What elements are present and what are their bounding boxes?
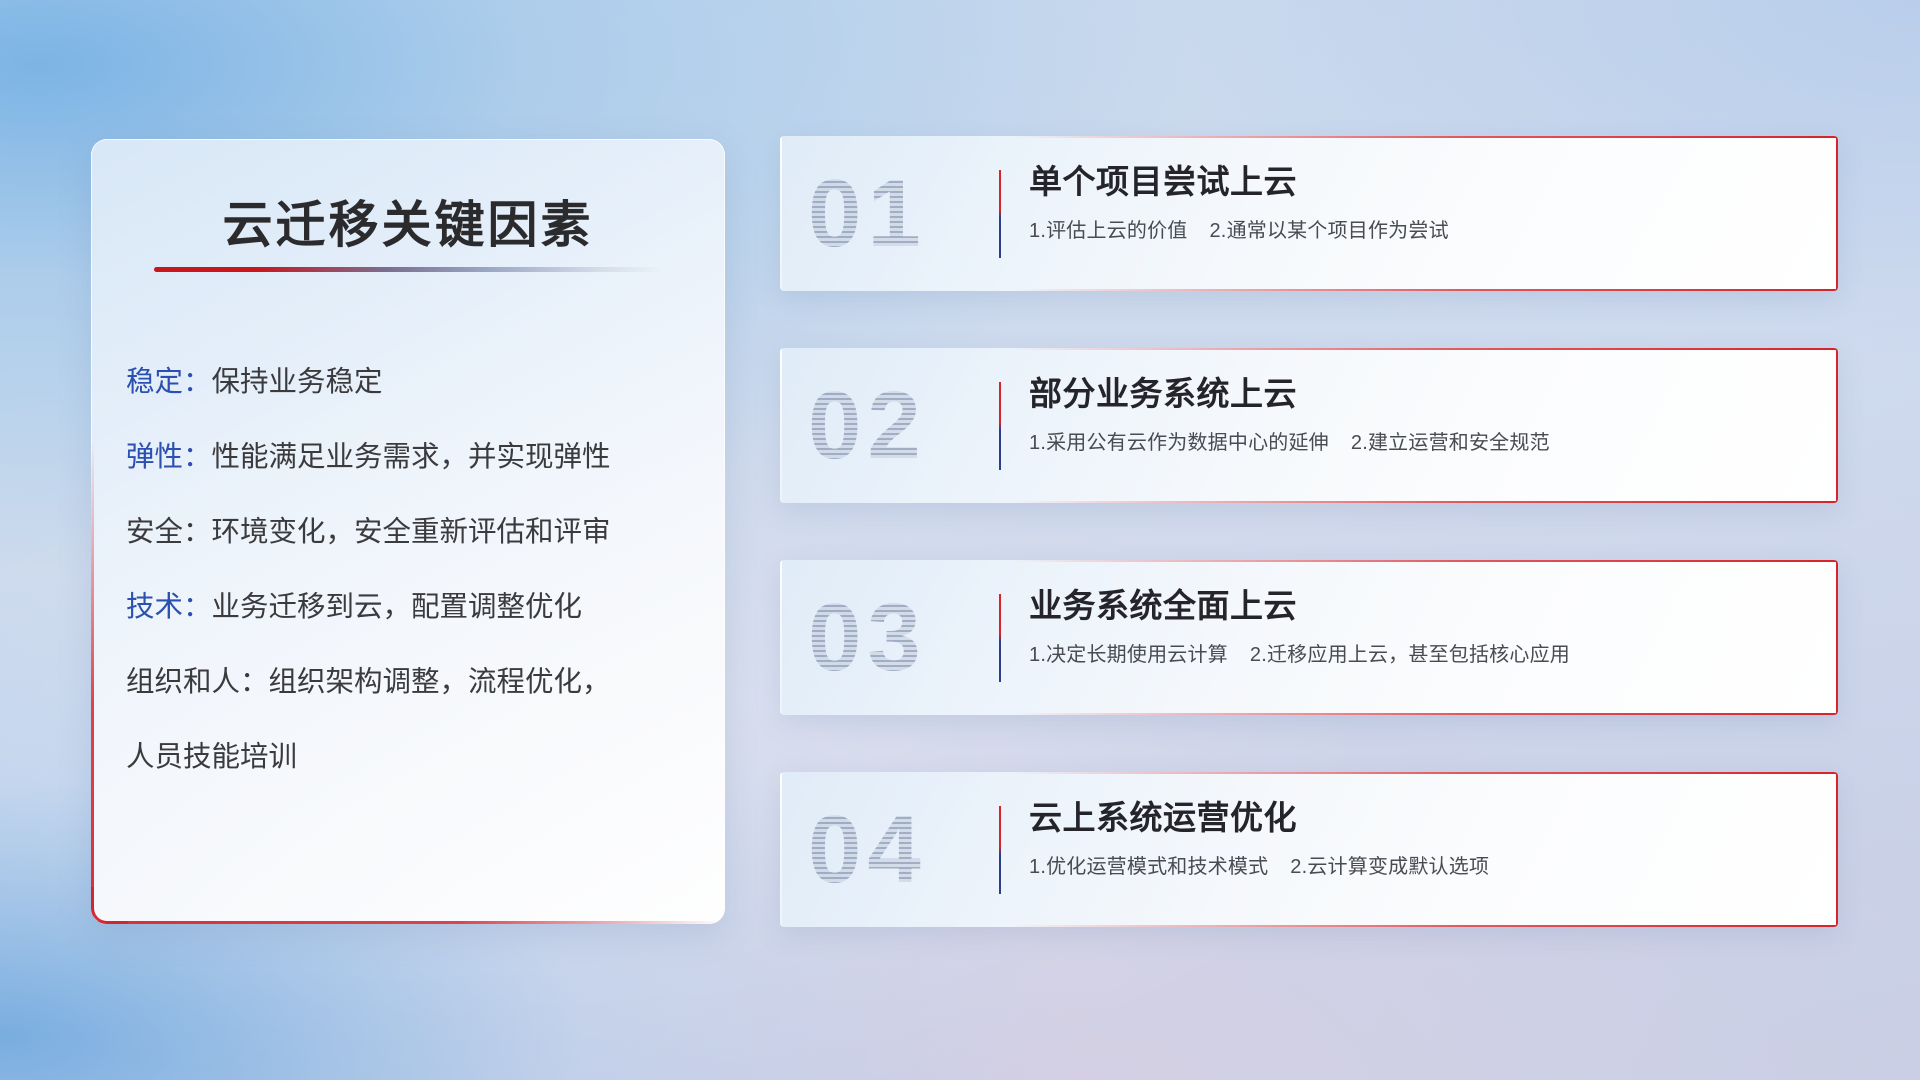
list-item: 安全：环境变化，安全重新评估和评审 [126,495,699,570]
card-right-edge [1836,136,1838,291]
panel-accent-left-edge [91,439,94,924]
list-item: 稳定：保持业务稳定 [126,345,699,420]
list-item-key: 安全： [126,516,212,548]
key-factors-panel: 云迁移关键因素 稳定：保持业务稳定 弹性：性能满足业务需求，并实现弹性 安全：环… [91,139,725,924]
card-description-part-1: 1.采用公有云作为数据中心的延伸 [1029,432,1329,454]
card-description-part-1: 1.评估上云的价值 [1029,220,1187,242]
list-item: 弹性：性能满足业务需求，并实现弹性 [126,420,699,495]
panel-title: 云迁移关键因素 [91,185,725,257]
list-item-key: 稳定： [126,366,212,398]
panel-accent-corner [91,887,128,924]
card-text-block: 单个项目尝试上云 1.评估上云的价值2.通常以某个项目作为尝试 [1029,162,1818,243]
card-top-edge [1013,772,1838,774]
card-divider [999,806,1001,894]
card-text-block: 业务系统全面上云 1.决定长期使用云计算2.迁移应用上云，甚至包括核心应用 [1029,586,1818,667]
list-item-value: 人员技能培训 [126,741,297,773]
card-right-edge [1836,772,1838,927]
card-bottom-edge [1013,713,1838,715]
panel-title-underline [154,267,662,272]
list-item-value: 环境变化，安全重新评估和评审 [212,516,611,548]
card-description: 1.采用公有云作为数据中心的延伸2.建立运营和安全规范 [1029,426,1818,455]
list-item-key: 弹性： [126,441,212,473]
card-description: 1.优化运营模式和技术模式2.云计算变成默认选项 [1029,850,1818,879]
card-title: 单个项目尝试上云 [1029,162,1818,202]
list-item-value: 组织架构调整，流程优化， [269,666,611,698]
key-factors-list: 稳定：保持业务稳定 弹性：性能满足业务需求，并实现弹性 安全：环境变化，安全重新… [126,345,699,795]
card-left-edge [780,136,782,291]
card-bottom-edge [1013,289,1838,291]
card-left-edge [780,560,782,715]
card-top-edge [1013,136,1838,138]
list-item: 组织和人：组织架构调整，流程优化， [126,645,699,720]
card-divider [999,170,1001,258]
card-title: 业务系统全面上云 [1029,586,1818,626]
list-item-key: 组织和人： [126,666,269,698]
card-description-part-2: 2.建立运营和安全规范 [1351,432,1550,454]
card-bottom-edge [1013,501,1838,503]
card-title: 部分业务系统上云 [1029,374,1818,414]
card-description-part-2: 2.迁移应用上云，甚至包括核心应用 [1250,644,1570,666]
list-item: 技术：业务迁移到云，配置调整优化 [126,570,699,645]
list-item-continuation: 人员技能培训 [126,720,699,795]
card-bottom-edge [1013,925,1838,927]
card-description-part-1: 1.决定长期使用云计算 [1029,644,1228,666]
stage-card[interactable]: 01 单个项目尝试上云 1.评估上云的价值2.通常以某个项目作为尝试 [780,136,1838,291]
card-left-edge [780,772,782,927]
card-divider [999,382,1001,470]
card-step-number: 04 [808,802,927,898]
panel-accent-bottom-edge [91,921,725,924]
list-item-value: 保持业务稳定 [212,366,383,398]
list-item-key: 技术： [126,591,212,623]
list-item-value: 业务迁移到云，配置调整优化 [212,591,583,623]
stage-card[interactable]: 02 部分业务系统上云 1.采用公有云作为数据中心的延伸2.建立运营和安全规范 [780,348,1838,503]
stage-cards-list: 01 单个项目尝试上云 1.评估上云的价值2.通常以某个项目作为尝试 02 部分… [780,136,1838,984]
card-description: 1.决定长期使用云计算2.迁移应用上云，甚至包括核心应用 [1029,638,1818,667]
card-text-block: 云上系统运营优化 1.优化运营模式和技术模式2.云计算变成默认选项 [1029,798,1818,879]
card-description-part-1: 1.优化运营模式和技术模式 [1029,856,1268,878]
card-step-number: 01 [808,166,927,262]
card-step-number: 02 [808,378,927,474]
card-title: 云上系统运营优化 [1029,798,1818,838]
card-top-edge [1013,348,1838,350]
card-top-edge [1013,560,1838,562]
list-item-value: 性能满足业务需求，并实现弹性 [212,441,611,473]
stage-card[interactable]: 04 云上系统运营优化 1.优化运营模式和技术模式2.云计算变成默认选项 [780,772,1838,927]
card-right-edge [1836,560,1838,715]
card-description-part-2: 2.通常以某个项目作为尝试 [1209,220,1448,242]
stage-card[interactable]: 03 业务系统全面上云 1.决定长期使用云计算2.迁移应用上云，甚至包括核心应用 [780,560,1838,715]
card-left-edge [780,348,782,503]
card-divider [999,594,1001,682]
card-right-edge [1836,348,1838,503]
card-text-block: 部分业务系统上云 1.采用公有云作为数据中心的延伸2.建立运营和安全规范 [1029,374,1818,455]
card-step-number: 03 [808,590,927,686]
card-description: 1.评估上云的价值2.通常以某个项目作为尝试 [1029,214,1818,243]
card-description-part-2: 2.云计算变成默认选项 [1290,856,1489,878]
